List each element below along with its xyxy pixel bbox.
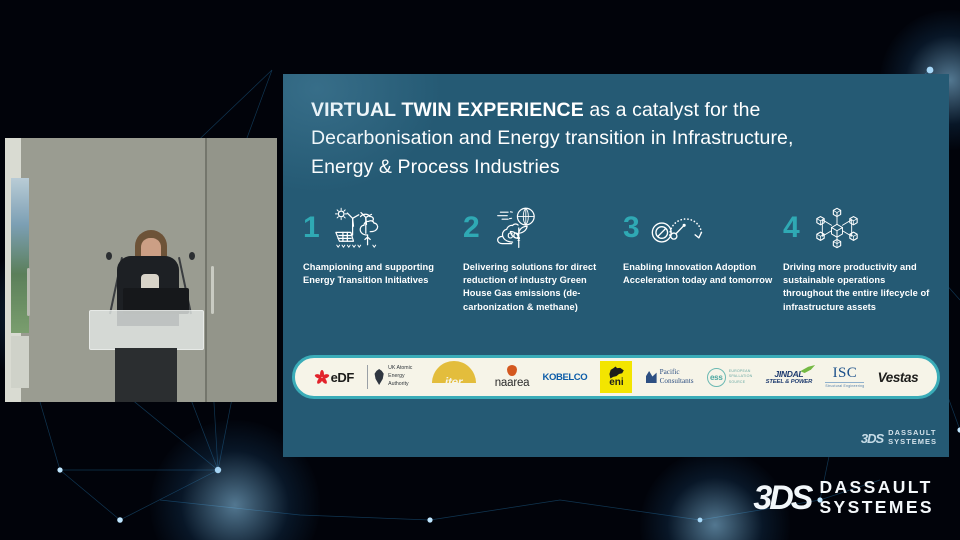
slide-title: VIRTUAL TWIN EXPERIENCE as a catalyst fo…: [311, 96, 921, 181]
pillar-4: 4: [783, 204, 943, 329]
co2-reduction-icon: CO 2: [491, 206, 543, 250]
molecular-lattice-icon: [811, 206, 863, 250]
presentation-slide: VIRTUAL TWIN EXPERIENCE as a catalyst fo…: [283, 74, 949, 457]
video-stage: VIRTUAL TWIN EXPERIENCE as a catalyst fo…: [0, 0, 960, 540]
door-handle-left: [27, 268, 30, 316]
dassault-3ds-mark-large: 3DS: [753, 479, 810, 518]
jindal-logo-label: JINDAL: [774, 369, 803, 379]
microphone-head: [106, 252, 112, 260]
dassault-wordmark: DASSAULT SYSTEMES: [888, 429, 937, 447]
microphone-head: [189, 252, 195, 260]
ess-ring-label: ess: [707, 368, 726, 387]
naarea-logo-label: naarea: [495, 377, 530, 389]
naarea-logo: naarea: [495, 365, 530, 389]
presenter-video-inset: [5, 138, 277, 402]
pacific-consultants-logo: PacificConsultants: [646, 368, 694, 385]
dassault-wordmark-line2: SYSTEMES: [888, 437, 937, 446]
pillar-1-number: 1: [303, 213, 325, 243]
renewable-energy-icon: [331, 206, 383, 250]
uk-atomic-energy-authority-logo: UK AtomicEnergyAuthority: [367, 365, 412, 388]
dassault-wordmark-large-line2: SYSTEMES: [819, 497, 934, 517]
edf-logo-label: eDF: [331, 370, 354, 385]
pillar-1: 1: [303, 204, 463, 329]
pillar-2-text: Delivering solutions for direct reductio…: [463, 261, 615, 314]
pillar-1-head: 1: [303, 204, 455, 252]
iter-logo-label: iter: [445, 375, 462, 390]
pillar-4-text: Driving more productivity and sustainabl…: [783, 261, 935, 314]
isc-logo: ISC Structural Engineering: [825, 366, 864, 388]
eni-logo-label: eni: [609, 378, 623, 388]
pillars-row: 1: [303, 204, 943, 329]
jindal-steel-power-logo: JINDAL STEEL & POWER: [766, 369, 813, 385]
podium: [89, 310, 204, 350]
door-handle: [211, 266, 214, 314]
pacific-logo-label: PacificConsultants: [660, 368, 694, 385]
eni-logo: eni: [600, 361, 632, 393]
slide-title-line2: Decarbonisation and Energy transition in…: [311, 127, 794, 149]
jindal-logo-sublabel: STEEL & POWER: [766, 379, 813, 385]
slide-title-rest: as a catalyst for the: [584, 99, 761, 121]
kobelco-logo: KOBELCO: [543, 372, 588, 383]
slide-title-line3: Energy & Process Industries: [311, 156, 560, 178]
dassault-wordmark-large: DASSAULT SYSTEMES: [819, 478, 934, 518]
vestas-logo: Vestas: [878, 370, 919, 385]
pillar-3: 3: [623, 204, 783, 329]
isc-logo-sublabel: Structural Engineering: [825, 382, 864, 388]
ess-logo-sublabel: EUROPEANSPALLATIONSOURCE: [729, 369, 753, 386]
dassault-3ds-mark: 3DS: [861, 431, 883, 446]
pacific-mountain-icon: [646, 371, 657, 383]
dassault-wordmark-large-line1: DASSAULT: [819, 477, 932, 497]
wall-seam: [205, 138, 207, 402]
wall-panel: [21, 138, 207, 402]
svg-text:2: 2: [517, 237, 520, 243]
main-brand-logo: 3DS DASSAULT SYSTEMES: [753, 478, 934, 518]
edf-flower-mark: [314, 370, 329, 385]
wall-panel-right: [207, 138, 277, 402]
window-lower: [11, 336, 29, 388]
podium-base: [115, 348, 177, 402]
customer-logo-bar: eDF UK AtomicEnergyAuthority iter naarea…: [292, 355, 940, 399]
speedometer-acceleration-icon: [651, 206, 703, 250]
naarea-seed-mark: [507, 365, 517, 376]
pillar-4-head: 4: [783, 204, 935, 252]
iter-logo: iter: [426, 364, 482, 390]
dassault-wordmark-line1: DASSAULT: [888, 428, 936, 437]
pillar-2-number: 2: [463, 213, 485, 243]
edf-logo: eDF: [314, 370, 354, 385]
slide-brand-logo: 3DS DASSAULT SYSTEMES: [861, 429, 937, 447]
ukaea-logo-label: UK AtomicEnergyAuthority: [388, 365, 412, 388]
pillar-3-number: 3: [623, 213, 645, 243]
pillar-3-head: 3: [623, 204, 775, 252]
pillar-3-text: Enabling Innovation Adoption Acceleratio…: [623, 261, 775, 287]
pillar-1-text: Championing and supporting Energy Transi…: [303, 261, 455, 287]
ess-logo: ess EUROPEANSPALLATIONSOURCE: [707, 368, 753, 387]
ukaea-crest-icon: [373, 369, 385, 385]
pillar-4-number: 4: [783, 213, 805, 243]
pillar-2: 2: [463, 204, 623, 329]
pillar-2-head: 2: [463, 204, 615, 252]
slide-title-strong: VIRTUAL TWIN EXPERIENCE: [311, 99, 584, 121]
isc-logo-label: ISC: [833, 366, 858, 381]
